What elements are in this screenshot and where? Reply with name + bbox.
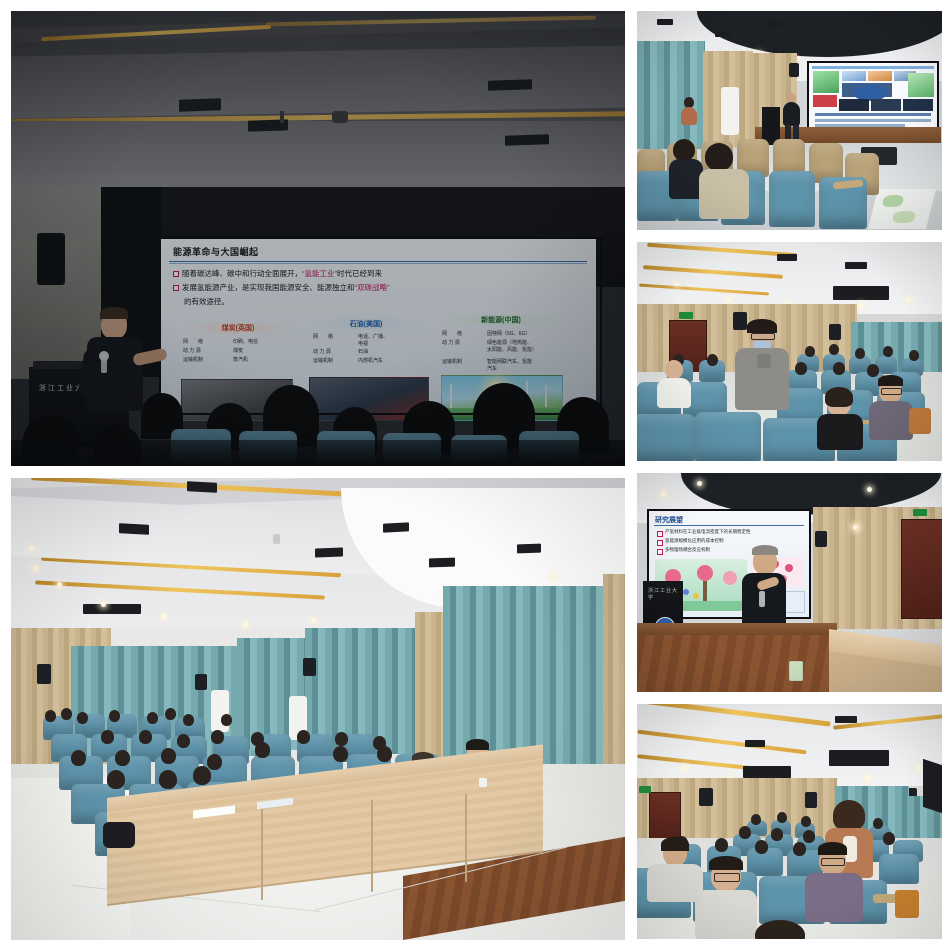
foreground-head [755,920,805,939]
photo-auditorium-overview [11,478,625,940]
wall-speaker-icon [37,233,65,285]
wall-speaker-icon [829,324,841,340]
seated-student-purple [805,846,863,922]
seated-man [869,378,913,440]
wall-speaker-icon [37,664,51,684]
eyeglasses-icon [821,858,845,866]
exit-sign-icon [913,509,927,516]
sprinkler-icon [273,534,280,544]
air-conditioner [721,87,739,135]
stage-presenter [781,93,803,143]
audience-member [699,143,749,219]
door [649,792,681,842]
eyeglasses-icon [881,388,902,395]
wall-speaker-icon [195,674,207,690]
tea-cup [479,778,487,787]
ceiling-vent [488,79,532,91]
photo-audience-woman-question [637,704,942,939]
wall-speaker-icon [815,531,827,547]
photo-stage-wide [637,11,942,230]
podium-university-mark: 浙江工业大学 [648,587,680,594]
research-bullet-2: 氢能源规模化应用的成本控制 [665,538,724,544]
research-slide-title: 研究展望 [655,515,683,525]
eyeglasses-icon [751,333,775,340]
floor-poster [868,189,936,229]
standing-student [733,322,791,452]
seated-student-glasses [695,860,757,939]
curtain [637,41,705,149]
handbag [895,890,919,918]
door [901,519,942,619]
photo-speaker-research: 研究展望 产氢材料在工业级电流密度下的长期稳定性 氢能源规模化应用的成本控制 多… [637,473,942,692]
bullet-square-icon [657,549,663,555]
water-glass [789,661,803,681]
sprinkler-icon [280,111,284,123]
exit-sign-icon [639,786,651,793]
backpack [103,822,135,848]
exit-sign-icon [679,312,693,319]
bullet-square-icon [657,531,663,537]
wall-speaker-icon [303,658,316,676]
wall-speaker-icon [699,788,713,806]
photo-collage: 能源革命与大国崛起 随着碳达峰、碳中和行动全面展开，“氢能工业”时代已经到来 发… [0,0,950,950]
ceiling-speaker-icon [332,111,348,123]
bullet-square-icon [657,540,663,546]
research-bullet-3: 多物理场耦合反应机制 [665,547,710,553]
audience-member [681,97,697,125]
seated-woman [817,390,863,450]
ceiling-vent [179,98,221,111]
wall-speaker-icon [805,792,817,808]
audience-member [669,139,703,199]
seated-student-left [657,360,691,408]
photo-lecture-slide: 能源革命与大国崛起 随着碳达峰、碳中和行动全面展开，“氢能工业”时代已经到来 发… [11,11,625,466]
eyeglasses-icon [714,873,740,882]
handbag [909,408,931,434]
led-display [809,63,937,129]
photo-audience-standing-question [637,242,942,461]
wall-speaker-icon [789,63,799,77]
seated-student-leaning [647,840,703,902]
research-bullet-1: 产氢材料在工业级电流密度下的长期稳定性 [665,529,751,535]
ceiling-vent [505,134,549,146]
microphone-icon [759,591,765,607]
